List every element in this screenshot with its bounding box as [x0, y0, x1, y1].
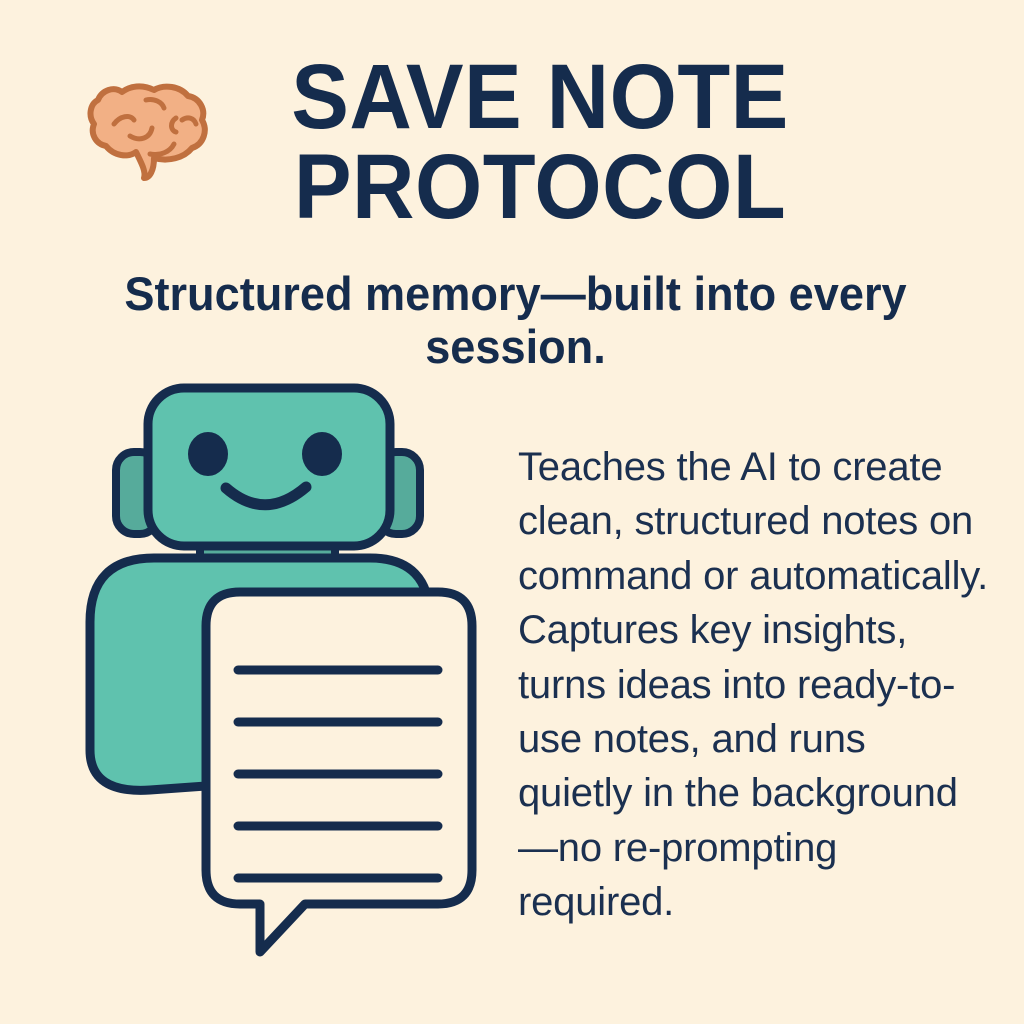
title-line-1: SAVE NOTE — [249, 52, 832, 142]
brain-icon — [84, 72, 212, 184]
page-subtitle: Structured memory—built into every sessi… — [96, 268, 936, 373]
poster-canvas: SAVE NOTE PROTOCOL Structured memory—bui… — [0, 0, 1024, 1024]
page-title: SAVE NOTE PROTOCOL — [230, 52, 850, 232]
robot-eye-left — [188, 432, 228, 476]
title-line-2: PROTOCOL — [249, 142, 832, 232]
robot-illustration — [60, 370, 500, 980]
robot-eye-right — [302, 432, 342, 476]
body-paragraph: Teaches the AI to create clean, structur… — [518, 440, 988, 930]
robot-head — [148, 388, 390, 546]
